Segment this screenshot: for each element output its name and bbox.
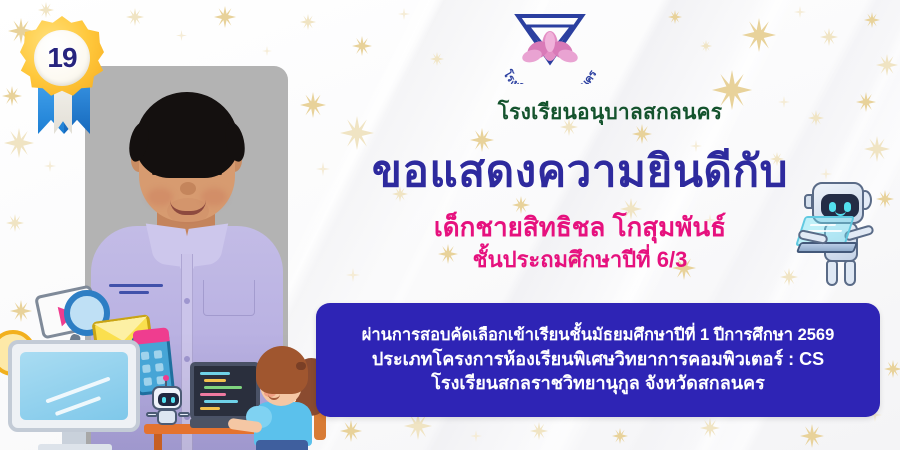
calculator-key [141, 351, 150, 360]
computer-monitor-icon [8, 340, 140, 432]
code-line [204, 386, 242, 389]
robot-arm-right [178, 412, 190, 417]
badge-number: 19 [34, 30, 90, 86]
screen-shine [55, 396, 101, 416]
girl-coding-at-computer-illustration [0, 282, 324, 450]
desk-robot-icon [146, 386, 190, 430]
calculator-key [154, 350, 163, 359]
code-line [204, 379, 226, 382]
achievement-info-panel: ผ่านการสอบคัดเลือกเข้าเรียนชั้นมัธยมศึกษ… [316, 303, 880, 417]
monitor-base [38, 444, 112, 450]
robot-head [152, 386, 182, 410]
robot-eye-left [162, 397, 166, 403]
code-line [810, 224, 837, 226]
code-line [200, 372, 230, 375]
robot-body [157, 409, 177, 425]
svg-text:โรงเรียนอนุบาลสกลนคร: โรงเรียนอนุบาลสกลนคร [500, 67, 599, 84]
calculator-display [132, 327, 169, 345]
robot-visor [821, 194, 859, 218]
monitor-screen [20, 352, 128, 420]
girl-hair [256, 346, 308, 394]
calculator-key [142, 364, 151, 373]
code-line [200, 407, 220, 410]
girl-smile [268, 394, 280, 400]
robot-leg-left [826, 260, 838, 286]
calculator-key [143, 377, 152, 386]
robot-eye-right [171, 397, 175, 403]
student-class: ชั้นประถมศึกษาปีที่ 6/3 [370, 242, 790, 277]
info-line-program: ประเภทโครงการห้องเรียนพิเศษวิทยาการคอมพิ… [372, 348, 824, 371]
code-line [200, 393, 226, 396]
robot-arm-left [146, 412, 158, 417]
robot-leg-right [844, 260, 856, 286]
robot-visor [158, 393, 179, 406]
screen-shine [45, 376, 110, 403]
code-line [204, 400, 238, 403]
robot-laptop-keyboard [796, 242, 858, 253]
school-name-heading: โรงเรียนอนุบาลสกลนคร [330, 96, 890, 129]
certificate-banner: 19 โรงเรียนอนุบาลสกลนคร โรงเรียนอนุบาลสก… [0, 0, 900, 450]
girl-jeans [256, 440, 308, 450]
cheek-left [147, 188, 173, 206]
school-logo-svg: โรงเรียนอนุบาลสกลนคร [484, 6, 616, 84]
info-line-exam: ผ่านการสอบคัดเลือกเข้าเรียนชั้นมัธยมศึกษ… [362, 325, 835, 346]
school-logo: โรงเรียนอนุบาลสกลนคร [484, 6, 616, 84]
nose [180, 182, 196, 195]
hair [135, 92, 239, 178]
calculator-key [155, 363, 164, 372]
rank-badge: 19 [14, 12, 110, 138]
congratulations-headline: ขอแสดงความยินดีกับ [300, 136, 860, 206]
hair-tie [296, 362, 306, 370]
desk-leg [154, 434, 162, 450]
robot-with-laptop-icon [786, 176, 894, 294]
info-line-destination-school: โรงเรียนสกลราชวิทยานุกูล จังหวัดสกลนคร [431, 372, 765, 395]
